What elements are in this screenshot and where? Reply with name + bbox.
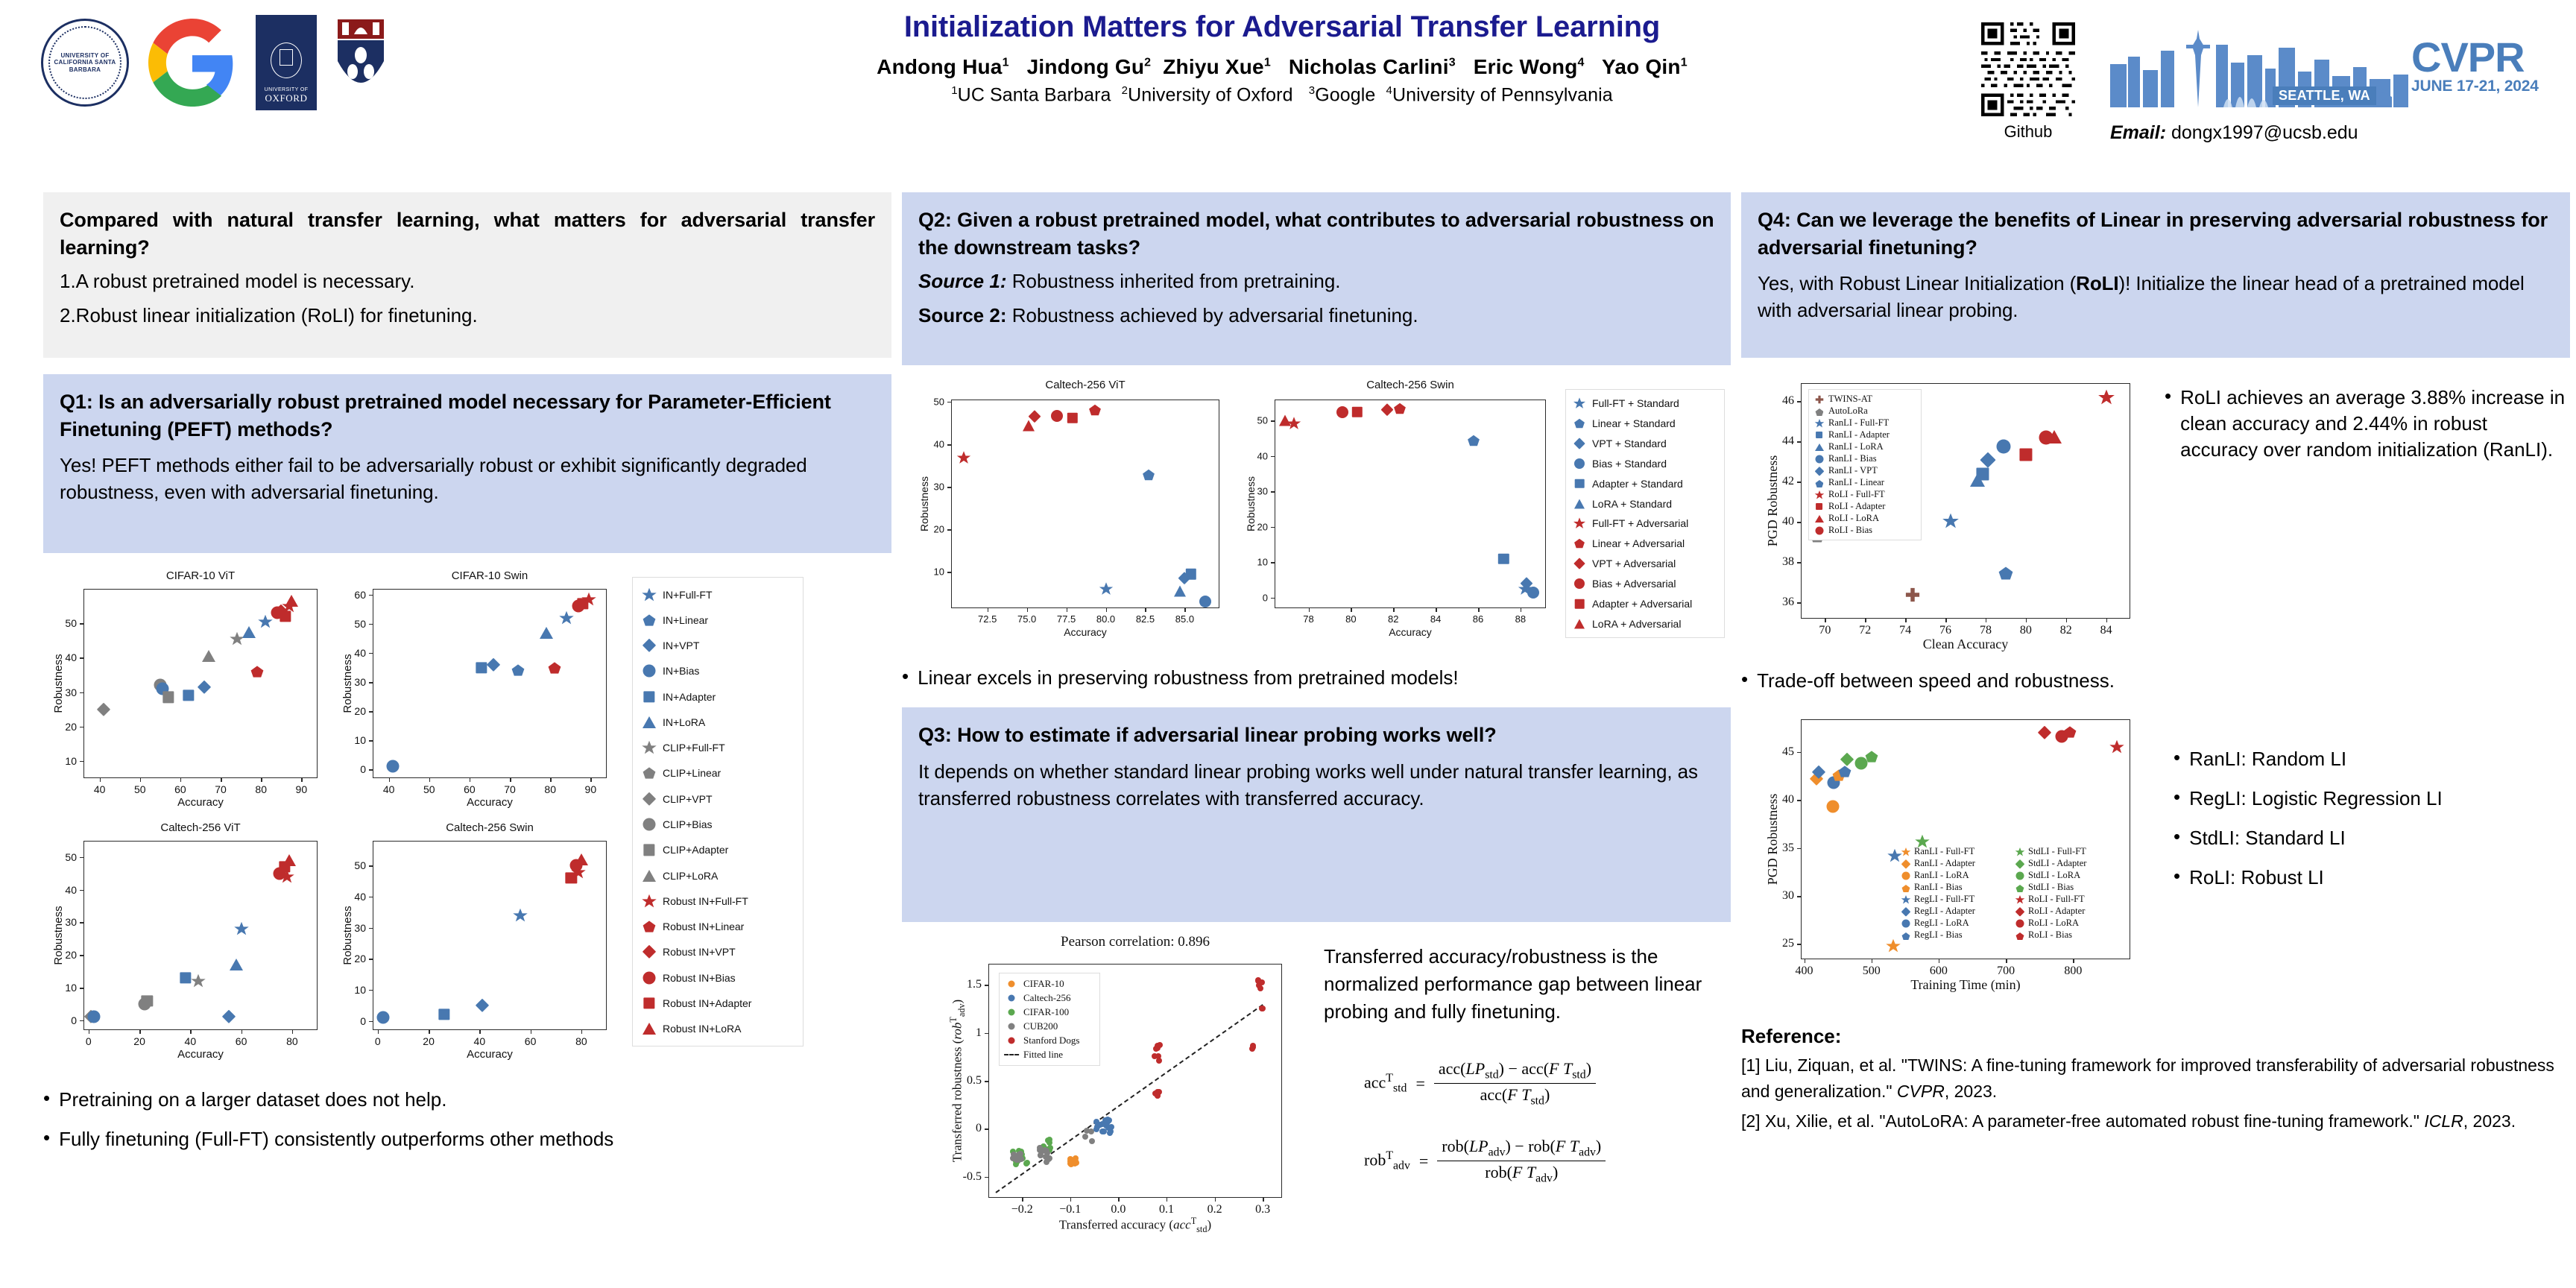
y-tickmark bbox=[1797, 800, 1801, 801]
legend-item: RanLI - LoRA bbox=[1813, 441, 1916, 452]
seattle-skyline-icon bbox=[2104, 25, 2425, 107]
x-tick-label: 88 bbox=[1515, 613, 1526, 625]
data-point bbox=[1023, 420, 1035, 432]
y-tickmark bbox=[369, 624, 373, 625]
data-point bbox=[1155, 1093, 1161, 1099]
legend-label: Linear + Standard bbox=[1592, 417, 1676, 429]
y-tickmark bbox=[369, 595, 373, 596]
chart-pgd-vs-training-time: 4005006007008002530354045Training Time (… bbox=[1755, 704, 2142, 1003]
x-tick-label: 80 bbox=[575, 1035, 587, 1047]
eq-rob-numerator: rob(LPadv) − rob(F Tadv) bbox=[1437, 1137, 1606, 1161]
legend-label: LoRA + Standard bbox=[1592, 498, 1672, 510]
y-tick-label: 45 bbox=[1782, 745, 1794, 759]
legend-marker-icon bbox=[1573, 538, 1585, 549]
chart-title: CIFAR-10 ViT bbox=[83, 569, 318, 582]
legend-item: Robust IN+VPT bbox=[640, 944, 795, 960]
abbrev-regli: RegLI: Logistic Regression LI bbox=[2189, 786, 2443, 812]
legend-marker-icon bbox=[1814, 490, 1825, 500]
q3-answer: It depends on whether standard linear pr… bbox=[918, 759, 1714, 812]
x-tick-label: 0 bbox=[375, 1035, 381, 1047]
author-list: Andong Hua1 Jindong Gu2 Zhiyu Xue1 Nicho… bbox=[671, 55, 1893, 79]
x-tickmark bbox=[378, 1030, 379, 1034]
legend-label: IN+Full-FT bbox=[663, 589, 713, 601]
legend-item: Linear + Adversarial bbox=[1572, 537, 1718, 550]
reference-item-1: [1] Liu, Ziquan, et al. "TWINS: A fine-t… bbox=[1741, 1052, 2570, 1104]
x-tickmark bbox=[89, 1030, 90, 1034]
col3-bullet-tradeoff-text: Trade-off between speed and robustness. bbox=[1757, 668, 2115, 694]
bullet-dot-icon: • bbox=[43, 1126, 50, 1152]
bullet-dot-icon: • bbox=[2173, 825, 2180, 851]
data-point bbox=[1084, 1128, 1090, 1134]
cvpr-name: CVPR bbox=[2411, 39, 2539, 76]
abbrev-roli: RoLI: Robust LI bbox=[2189, 865, 2324, 891]
legend-item: Robust IN+Adapter bbox=[640, 996, 795, 1011]
legend-marker-icon bbox=[1814, 466, 1823, 475]
x-tick-label: 86 bbox=[1473, 613, 1483, 625]
q4-question-text: Q4: Can we leverage the benefits of Line… bbox=[1758, 209, 2548, 259]
data-point bbox=[1051, 410, 1063, 422]
legend-marker-icon bbox=[1574, 499, 1585, 508]
x-axis-label: Accuracy bbox=[951, 626, 1219, 638]
x-tick-label: 400 bbox=[1796, 965, 1813, 978]
y-tickmark bbox=[80, 727, 83, 728]
y-tick-label: 50 bbox=[354, 859, 366, 871]
header-right-brand: Github bbox=[1979, 10, 2568, 178]
legend-marker-icon bbox=[1901, 907, 1910, 916]
chart-title: Caltech-256 Swin bbox=[373, 821, 607, 834]
oxford-crest-icon bbox=[271, 42, 302, 78]
y-tick-label: 10 bbox=[65, 982, 77, 994]
legend-label: Full-FT + Standard bbox=[1592, 397, 1679, 409]
legend-label: RoLI - LoRA bbox=[2028, 918, 2079, 929]
x-tickmark bbox=[1263, 1198, 1264, 1202]
x-tickmark bbox=[1027, 608, 1029, 612]
legend-item: RoLI - Adapter bbox=[1813, 501, 1916, 512]
data-point bbox=[190, 973, 206, 989]
x-tickmark bbox=[1309, 608, 1310, 612]
y-tick-label: 40 bbox=[65, 651, 77, 663]
legend-item: CIFAR-100 bbox=[1005, 1006, 1094, 1018]
x-tickmark bbox=[1945, 619, 1947, 622]
legend-label: Caltech-256 bbox=[1023, 992, 1071, 1004]
q3-figure-row: Pearson correlation: 0.896−0.2−0.10.00.1… bbox=[902, 934, 1731, 1247]
ucsb-logo-text: UNIVERSITY OF CALIFORNIA SANTA BARBARA bbox=[43, 52, 127, 73]
q2-source1-text: Robustness inherited from pretraining. bbox=[1012, 270, 1341, 292]
data-point bbox=[1142, 469, 1155, 482]
ref1-venue: CVPR bbox=[1897, 1082, 1945, 1101]
qr-code-icon bbox=[1981, 22, 2075, 116]
legend-marker-icon bbox=[642, 945, 656, 959]
y-tick-label: 30 bbox=[354, 922, 366, 934]
legend-marker-icon bbox=[1574, 619, 1585, 628]
legend-label: Linear + Adversarial bbox=[1592, 537, 1685, 549]
data-point bbox=[575, 853, 588, 865]
y-tickmark bbox=[369, 959, 373, 960]
x-tickmark bbox=[510, 778, 511, 782]
data-point bbox=[1498, 553, 1509, 563]
y-tickmark bbox=[1271, 598, 1275, 599]
x-tickmark bbox=[1067, 608, 1068, 612]
legend-label: Bias + Adversarial bbox=[1592, 578, 1676, 590]
google-logo-icon bbox=[148, 19, 236, 107]
legend-item: Adapter + Adversarial bbox=[1572, 597, 1718, 610]
x-tick-label: 77.5 bbox=[1057, 613, 1076, 625]
legend-label: LoRA + Adversarial bbox=[1592, 618, 1681, 630]
legend-marker-icon bbox=[643, 971, 655, 984]
legend-marker-icon bbox=[642, 920, 655, 933]
legend-item: Bias + Adversarial bbox=[1572, 577, 1718, 590]
ref2-pre: [2] Xu, Xilie, et al. "AutoLoRA: A param… bbox=[1741, 1111, 2424, 1131]
y-tickmark bbox=[1271, 420, 1275, 422]
q4-answer: Yes, with Robust Linear Initialization (… bbox=[1758, 271, 2554, 324]
q4-question: Q4: Can we leverage the benefits of Line… bbox=[1758, 206, 2554, 261]
y-tick-label: 20 bbox=[354, 705, 366, 717]
legend-label: RoLI - Full-FT bbox=[1828, 489, 1885, 500]
legend-marker-icon bbox=[1815, 407, 1824, 416]
legend-marker-icon bbox=[643, 997, 654, 1008]
y-tickmark bbox=[947, 487, 951, 488]
col3-bullet-roli-text: RoLI achieves an average 3.88% increase … bbox=[2180, 385, 2567, 463]
legend-item: RanLI - Linear bbox=[1813, 477, 1916, 488]
legend-label: RanLI - Adapter bbox=[1828, 429, 1890, 441]
data-point bbox=[1023, 1161, 1029, 1167]
x-tick-label: 70 bbox=[1819, 624, 1831, 637]
legend-item: CIFAR-10 bbox=[1005, 978, 1094, 990]
legend-item: RanLI - Adapter bbox=[1813, 429, 1916, 441]
legend-marker-icon bbox=[642, 613, 655, 627]
legend-item: RanLI - LoRA bbox=[1901, 870, 2010, 881]
legend-marker-icon bbox=[1575, 599, 1585, 609]
x-axis-label: Accuracy bbox=[1275, 626, 1546, 638]
cvpr-logo: SEATTLE, WA CVPR JUNE 17-21, 2024 bbox=[2104, 25, 2566, 115]
legend-marker-icon bbox=[1816, 432, 1823, 439]
legend-item: LoRA + Standard bbox=[1572, 497, 1718, 511]
legend-marker-icon bbox=[1901, 859, 1910, 868]
data-point bbox=[1904, 587, 1921, 603]
legend-label: RanLI - Bias bbox=[1828, 453, 1877, 464]
legend-item: LoRA + Adversarial bbox=[1572, 617, 1718, 631]
x-tickmark bbox=[590, 778, 592, 782]
equation-acc: accTstd = acc(LPstd) − acc(F Tstd) acc(F… bbox=[1364, 1059, 1596, 1108]
legend-item: CLIP+Linear bbox=[640, 765, 795, 781]
x-tick-label: 78 bbox=[1303, 613, 1313, 625]
x-tick-label: 700 bbox=[1997, 965, 2015, 978]
x-tick-label: 90 bbox=[585, 783, 597, 795]
x-tickmark bbox=[1905, 619, 1907, 622]
legend-label: IN+LoRA bbox=[663, 716, 705, 728]
y-axis-label: Robustness bbox=[52, 841, 65, 1030]
legend-item: AutoLoRa bbox=[1813, 405, 1916, 417]
legend-item: RanLI - Bias bbox=[1813, 453, 1916, 464]
y-tickmark bbox=[1271, 527, 1275, 528]
data-point bbox=[1105, 1117, 1111, 1123]
abbreviation-list: • RanLI: Random LI • RegLI: Logistic Reg… bbox=[2173, 746, 2561, 891]
y-tickmark bbox=[1797, 896, 1801, 897]
legend-item: StdLI - LoRA bbox=[2015, 870, 2124, 881]
legend-label: AutoLoRa bbox=[1828, 405, 1868, 417]
data-point bbox=[376, 1011, 389, 1024]
bullet-dot-icon: • bbox=[2165, 385, 2171, 463]
chart-caltech256-swin-mid: Caltech-256 Swin78808284868801020304050A… bbox=[1236, 379, 1556, 647]
y-tickmark bbox=[1271, 562, 1275, 563]
x-tickmark bbox=[2026, 619, 2027, 622]
x-tick-label: 76 bbox=[1939, 624, 1951, 637]
data-point bbox=[1046, 1137, 1052, 1143]
q3-caption: Transferred accuracy/robustness is the n… bbox=[1324, 943, 1726, 1026]
legend-label: CLIP+Adapter bbox=[663, 844, 728, 856]
upenn-logo-icon bbox=[336, 18, 385, 107]
legend-label: Adapter + Adversarial bbox=[1592, 598, 1692, 610]
data-point bbox=[250, 665, 264, 678]
legend-label: CLIP+Linear bbox=[663, 767, 721, 779]
chart-caltech256-vit-mid: Caltech-256 ViT72.575.077.580.082.585.01… bbox=[909, 379, 1230, 647]
legend-label: Robust IN+LoRA bbox=[663, 1023, 741, 1035]
x-tickmark bbox=[1805, 959, 1806, 963]
mid-chart-group: Caltech-256 ViT72.575.077.580.082.585.01… bbox=[902, 379, 1731, 662]
bullet-dot-icon: • bbox=[43, 1087, 50, 1113]
data-point bbox=[1107, 1130, 1113, 1136]
x-tickmark bbox=[292, 1030, 294, 1034]
y-tick-label: 10 bbox=[934, 566, 944, 578]
abbrev-item: • RoLI: Robust LI bbox=[2173, 865, 2561, 891]
x-tickmark bbox=[261, 778, 262, 782]
cvpr-text-block: CVPR JUNE 17-21, 2024 bbox=[2411, 39, 2539, 95]
legend-item: Robust IN+Full-FT bbox=[640, 893, 795, 909]
x-tickmark bbox=[1436, 608, 1437, 612]
y-tickmark bbox=[1797, 482, 1801, 483]
bullet-dot-icon: • bbox=[2173, 786, 2180, 812]
x-axis-label: Clean Accuracy bbox=[1801, 637, 2130, 652]
data-point bbox=[1997, 440, 2011, 454]
summary-question: Compared with natural transfer learning,… bbox=[60, 206, 875, 261]
title-block: Initialization Matters for Adversarial T… bbox=[671, 10, 1893, 106]
x-tickmark bbox=[1106, 608, 1108, 612]
legend-marker-icon bbox=[1815, 515, 1824, 523]
x-tickmark bbox=[2106, 619, 2108, 622]
y-tick-label: 20 bbox=[65, 721, 77, 733]
x-axis-label: Accuracy bbox=[373, 796, 607, 809]
bullet-dot-icon: • bbox=[2173, 865, 2180, 891]
x-tick-label: 82 bbox=[1388, 613, 1398, 625]
data-point bbox=[142, 995, 153, 1006]
x-tickmark bbox=[550, 778, 552, 782]
legend-marker-icon bbox=[1574, 578, 1585, 589]
y-tick-label: 30 bbox=[1257, 486, 1268, 497]
legend-marker-icon bbox=[2015, 883, 2024, 892]
y-tick-label: 50 bbox=[934, 396, 944, 407]
col1-bullet-2: • Fully finetuning (Full-FT) consistentl… bbox=[43, 1126, 891, 1152]
data-point bbox=[956, 450, 971, 465]
x-tick-label: 84 bbox=[2100, 624, 2112, 637]
q2-source2: Source 2: Robustness achieved by adversa… bbox=[918, 302, 1714, 329]
legend-item: RoLI - LoRA bbox=[1813, 513, 1916, 524]
data-point bbox=[1097, 1122, 1103, 1128]
y-axis-label: Robustness bbox=[341, 589, 354, 778]
contact-email: Email: dongx1997@ucsb.edu bbox=[2110, 122, 2358, 144]
col1-bullet-1-text: Pretraining on a larger dataset does not… bbox=[59, 1087, 446, 1113]
x-tick-label: 85.0 bbox=[1175, 613, 1194, 625]
github-label: Github bbox=[1979, 122, 2077, 142]
legend-label: RegLI - Bias bbox=[1914, 929, 1963, 941]
legend-marker-icon bbox=[1902, 871, 1910, 880]
legend-label: IN+Bias bbox=[663, 665, 699, 677]
legend-item: Full-FT + Adversarial bbox=[1572, 517, 1718, 530]
data-point bbox=[558, 610, 574, 625]
data-point bbox=[1336, 406, 1348, 418]
bullet-dot-icon: • bbox=[1741, 668, 1748, 694]
legend-label: RoLI - Bias bbox=[2028, 929, 2072, 941]
pgd-training-time-legend: RanLI - Full-FT StdLI - Full-FT RanLI - … bbox=[1901, 846, 2124, 941]
legend-item: RegLI - Full-FT bbox=[1901, 894, 2010, 905]
data-point bbox=[1088, 404, 1101, 417]
y-tick-label: 20 bbox=[934, 524, 944, 535]
legend-marker-icon bbox=[641, 893, 657, 909]
legend-marker-icon bbox=[2015, 847, 2025, 857]
y-tickmark bbox=[985, 1033, 988, 1035]
chart-title: Pearson correlation: 0.896 bbox=[988, 934, 1282, 950]
legend-label: IN+Adapter bbox=[663, 691, 716, 703]
legend-label: RoLI - Adapter bbox=[1828, 501, 1885, 512]
x-tick-label: 70 bbox=[504, 783, 516, 795]
legend-label: RoLI - Bias bbox=[1828, 525, 1872, 536]
legend-item: RoLI - Bias bbox=[1813, 525, 1916, 536]
y-tick-label: 40 bbox=[934, 439, 944, 450]
pearson-legend: CIFAR-10 Caltech-256 CIFAR-100 CUB200 St… bbox=[999, 973, 1100, 1066]
abbrev-item: • RanLI: Random LI bbox=[2173, 746, 2561, 772]
x-tick-label: 800 bbox=[2064, 965, 2082, 978]
legend-label: Fitted line bbox=[1023, 1049, 1063, 1061]
oxford-logo-icon: UNIVERSITY OF OXFORD bbox=[256, 15, 317, 110]
github-qr-block[interactable]: Github bbox=[1979, 22, 2077, 142]
x-tick-label: 0.3 bbox=[1255, 1203, 1270, 1216]
legend-item: RegLI - Adapter bbox=[1901, 906, 2010, 917]
q2-source1-label: Source 1: bbox=[918, 270, 1007, 292]
q2-source2-text: Robustness achieved by adversarial finet… bbox=[1012, 304, 1418, 326]
bullet-dot-icon: • bbox=[2173, 746, 2180, 772]
legend-label: Adapter + Standard bbox=[1592, 478, 1683, 490]
legend-label: TWINS-AT bbox=[1828, 394, 1872, 405]
poster-title: Initialization Matters for Adversarial T… bbox=[671, 10, 1893, 43]
y-tick-label: 10 bbox=[65, 755, 77, 767]
legend-label: Robust IN+Full-FT bbox=[663, 895, 748, 907]
y-tickmark bbox=[369, 990, 373, 991]
y-tickmark bbox=[947, 529, 951, 531]
y-tickmark bbox=[947, 402, 951, 403]
legend-marker-icon bbox=[1573, 438, 1585, 449]
data-point bbox=[1101, 1128, 1107, 1134]
y-tickmark bbox=[369, 740, 373, 742]
legend-marker-icon bbox=[1815, 479, 1824, 487]
legend-marker-icon bbox=[1902, 919, 1910, 927]
email-value: dongx1997@ucsb.edu bbox=[2171, 122, 2358, 143]
poster-root: UNIVERSITY OF CALIFORNIA SANTA BARBARA U… bbox=[0, 0, 2576, 1288]
legend-marker-icon bbox=[643, 1023, 656, 1035]
legend-label: RoLI - Adapter bbox=[2028, 906, 2085, 917]
legend-label: CLIP+Full-FT bbox=[663, 742, 725, 754]
legend-item: CUB200 bbox=[1005, 1020, 1094, 1032]
y-tickmark bbox=[985, 985, 988, 986]
legend-item: Adapter + Standard bbox=[1572, 477, 1718, 490]
data-point bbox=[1099, 581, 1114, 596]
ref1-pre: [1] Liu, Ziquan, et al. "TWINS: A fine-t… bbox=[1741, 1055, 2554, 1101]
y-tickmark bbox=[369, 769, 373, 771]
legend-marker-icon bbox=[1814, 394, 1824, 404]
chart-title: Caltech-256 ViT bbox=[951, 379, 1219, 391]
data-point bbox=[1044, 1148, 1049, 1154]
legend-marker-icon bbox=[642, 792, 656, 806]
legend-label: CLIP+VPT bbox=[663, 793, 713, 805]
q2-source1: Source 1: Robustness inherited from pret… bbox=[918, 268, 1714, 294]
data-point bbox=[233, 921, 249, 937]
y-tick-label: 50 bbox=[1257, 415, 1268, 426]
data-point bbox=[1082, 1134, 1088, 1140]
x-tick-label: 60 bbox=[236, 1035, 247, 1047]
legend-marker-icon bbox=[1901, 883, 1910, 892]
data-point bbox=[1073, 1160, 1079, 1166]
legend-item: RoLI - Full-FT bbox=[2015, 894, 2124, 905]
chart-pgd-vs-clean-accuracy: 7072747678808284363840424446Clean Accura… bbox=[1755, 368, 2142, 659]
legend-label: VPT + Adversarial bbox=[1592, 558, 1676, 569]
cvpr-city-badge: SEATTLE, WA bbox=[2273, 86, 2376, 105]
legend-marker-icon bbox=[1816, 503, 1823, 511]
y-tickmark bbox=[947, 572, 951, 573]
legend-item: Robust IN+LoRA bbox=[640, 1021, 795, 1037]
data-point bbox=[1255, 977, 1261, 983]
y-tick-label: 10 bbox=[1257, 557, 1268, 568]
data-point bbox=[1827, 801, 1840, 813]
summary-panel: Compared with natural transfer learning,… bbox=[43, 192, 891, 358]
legend-marker-icon bbox=[2016, 871, 2024, 880]
legend-marker-icon bbox=[1004, 1054, 1019, 1055]
x-tickmark bbox=[1478, 608, 1480, 612]
legend-label: Robust IN+Adapter bbox=[663, 997, 751, 1009]
legend-label: StdLI - Bias bbox=[2028, 882, 2074, 893]
legend-marker-icon bbox=[1008, 1038, 1015, 1044]
poster-header: UNIVERSITY OF CALIFORNIA SANTA BARBARA U… bbox=[0, 0, 2576, 183]
y-tick-label: 40 bbox=[1782, 793, 1794, 806]
x-tickmark bbox=[139, 1030, 141, 1034]
x-tick-label: 20 bbox=[423, 1035, 435, 1047]
legend-label: IN+VPT bbox=[663, 640, 699, 651]
y-tick-label: 10 bbox=[354, 734, 366, 746]
y-tick-label: 25 bbox=[1782, 937, 1794, 950]
y-tick-label: 10 bbox=[354, 984, 366, 996]
x-tick-label: −0.1 bbox=[1059, 1203, 1081, 1216]
legend-marker-icon bbox=[1008, 995, 1015, 1002]
data-point bbox=[1174, 586, 1186, 597]
email-label: Email: bbox=[2110, 122, 2166, 143]
q3-panel: Q3: How to estimate if adversarial linea… bbox=[902, 707, 1731, 922]
y-tickmark bbox=[80, 761, 83, 763]
y-tick-label: 50 bbox=[65, 617, 77, 629]
legend-label: CUB200 bbox=[1023, 1020, 1058, 1032]
legend-marker-icon bbox=[642, 639, 656, 653]
data-point bbox=[387, 760, 400, 773]
y-tickmark bbox=[80, 623, 83, 625]
x-tickmark bbox=[1118, 1198, 1120, 1202]
legend-label: CLIP+Bias bbox=[663, 818, 713, 830]
data-point bbox=[547, 660, 561, 674]
y-tick-label: 40 bbox=[1257, 450, 1268, 461]
y-tick-label: 44 bbox=[1782, 435, 1794, 448]
legend-marker-icon bbox=[2016, 919, 2024, 927]
data-point bbox=[183, 690, 194, 701]
legend-item: RoLI - Full-FT bbox=[1813, 489, 1916, 500]
q4-figure-row-2: 4005006007008002530354045Training Time (… bbox=[1741, 704, 2570, 1017]
data-point bbox=[1352, 407, 1363, 417]
x-tickmark bbox=[389, 778, 391, 782]
legend-item: CLIP+VPT bbox=[640, 791, 795, 806]
